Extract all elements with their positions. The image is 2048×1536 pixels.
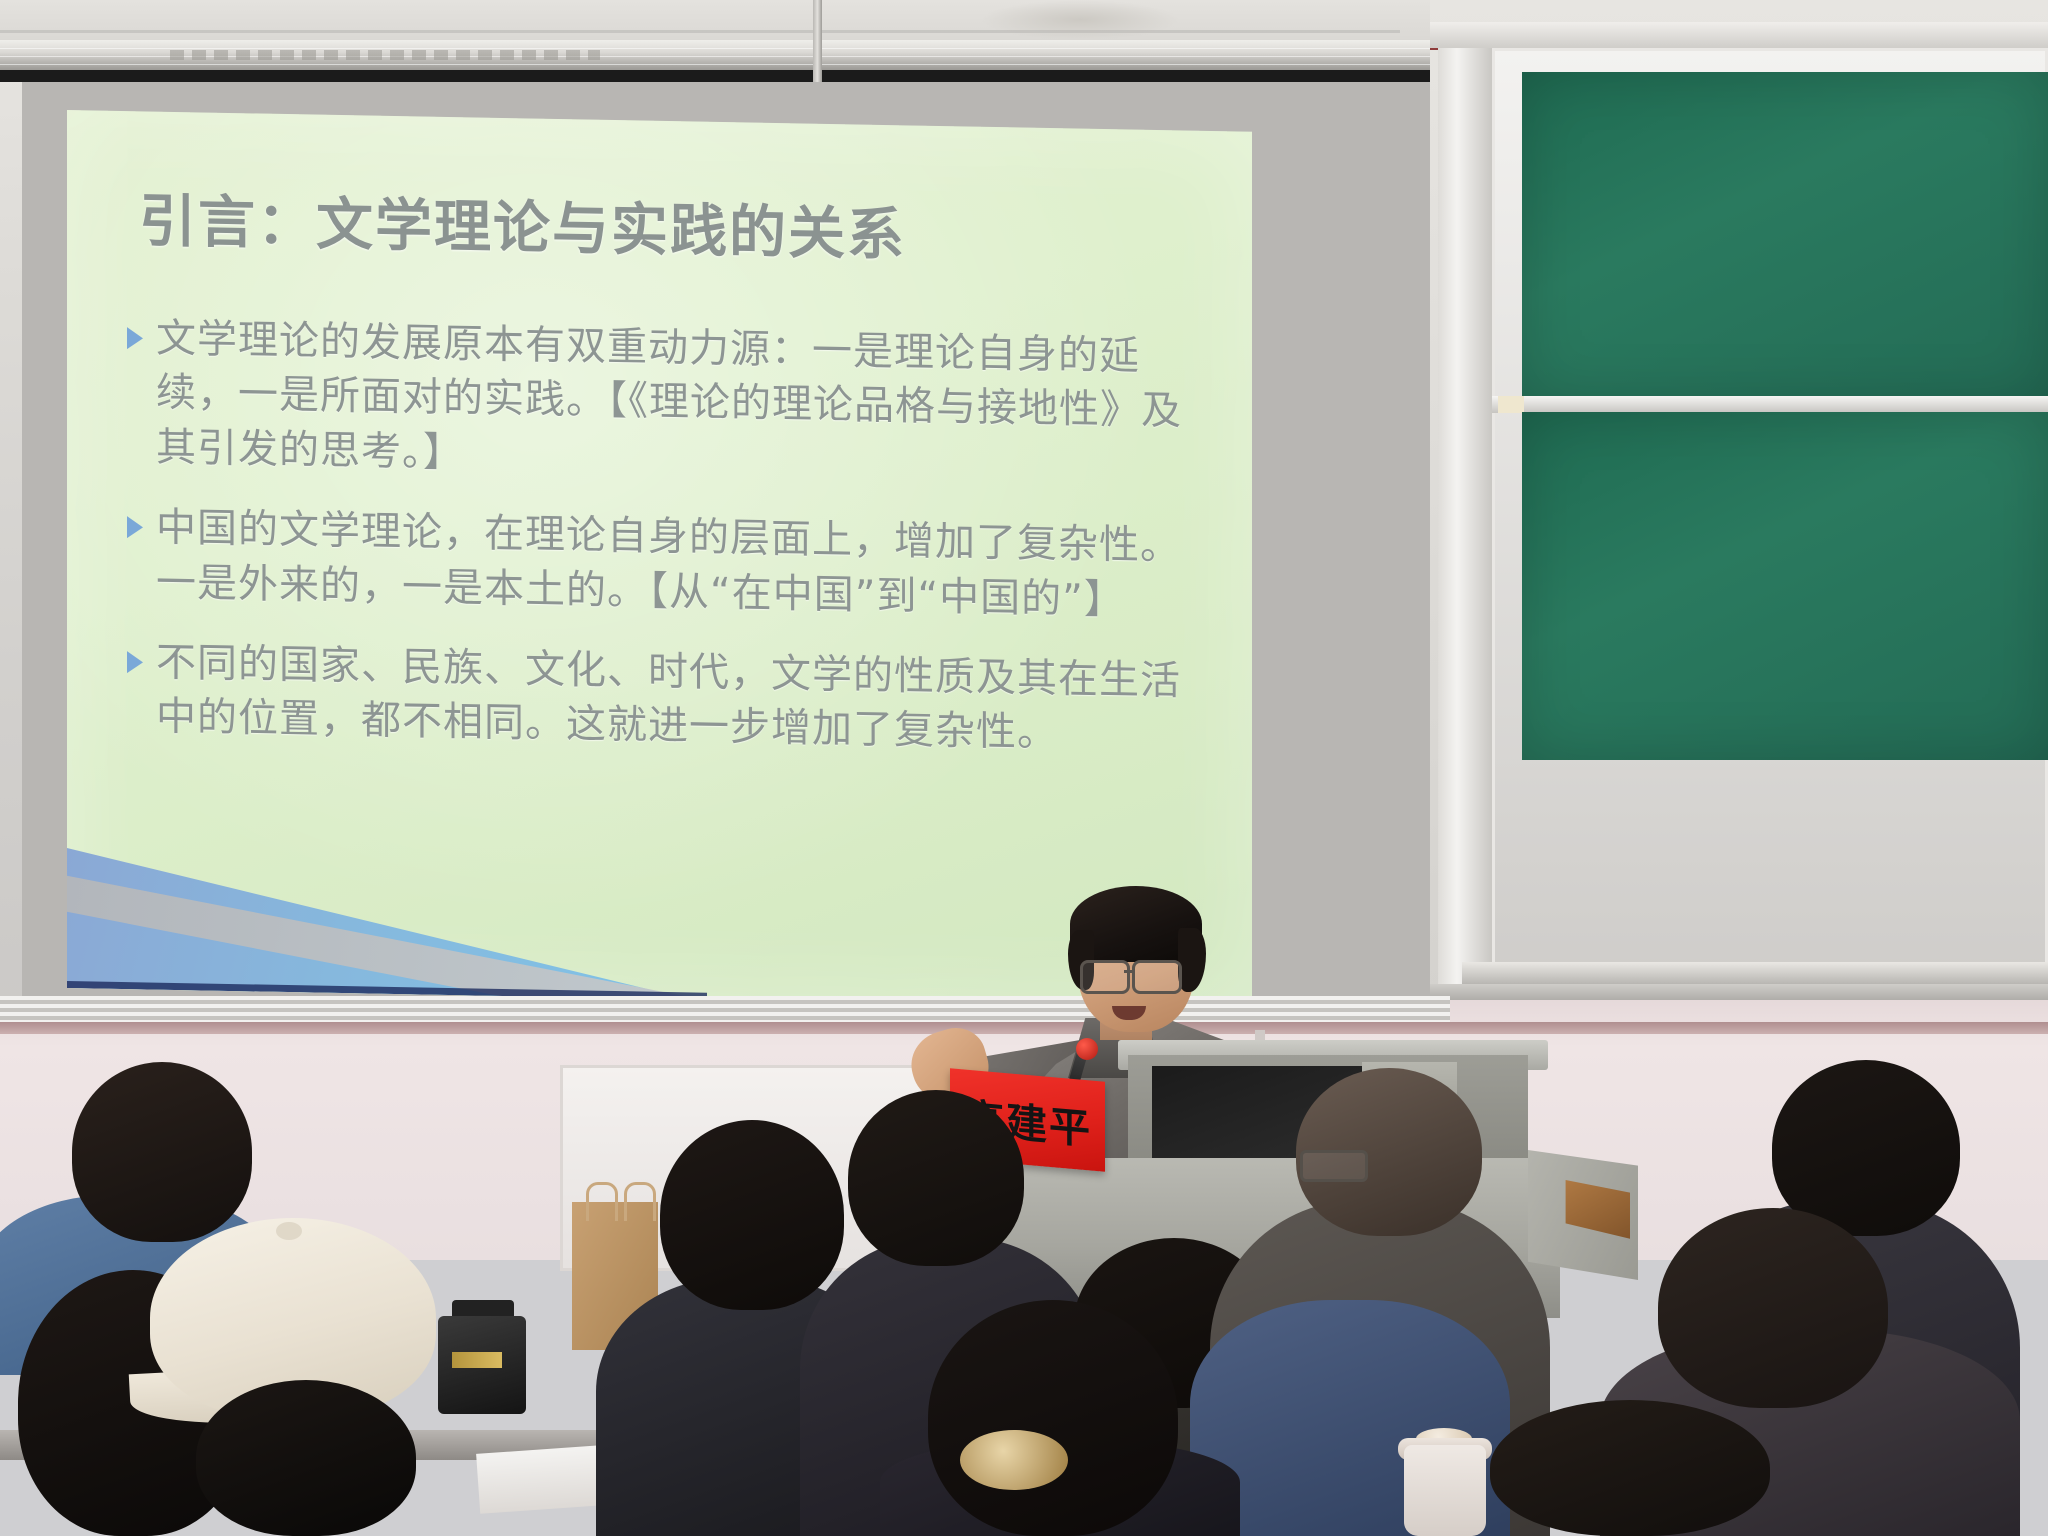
audience-glasses-icon — [1300, 1150, 1368, 1182]
audience-head — [1490, 1400, 1770, 1536]
audience-hair-under-cap — [196, 1380, 416, 1536]
slide-bullet-text: 中国的文学理论，在理论自身的层面上，增加了复杂性。一是外来的，一是本土的。【从“… — [156, 501, 1187, 629]
audience-head — [72, 1062, 252, 1242]
triangle-right-icon — [127, 516, 143, 538]
blackboard-left-post — [1438, 48, 1492, 998]
slide-bullet-list: 文学理论的发展原本有双重动力源：一是理论自身的延续，一是所面对的实践。【《理论的… — [127, 311, 1187, 789]
paper-bag-handle — [586, 1182, 618, 1221]
slide-bullet-item: 不同的国家、民族、文化、时代，文学的性质及其在生活中的位置，都不相同。这就进一步… — [127, 635, 1187, 763]
audience-head — [928, 1300, 1178, 1536]
slide-bullet-text: 文学理论的发展原本有双重动力源：一是理论自身的延续，一是所面对的实践。【《理论的… — [156, 312, 1187, 494]
camera-brand-badge — [452, 1352, 502, 1368]
audience-head — [848, 1090, 1024, 1266]
chalk-icon — [1498, 396, 1524, 413]
blackboard-bottom-ledge — [1462, 962, 2048, 984]
audience-head — [1772, 1060, 1960, 1236]
glasses-bridge — [1124, 970, 1134, 973]
lecture-hall-photo: 引言：文学理论与实践的关系 文学理论的发展原本有双重动力源：一是理论自身的延续，… — [0, 0, 2048, 1536]
hair-scrunchie — [960, 1430, 1068, 1490]
stage-rail-upper — [0, 996, 1450, 1022]
rail-printed-text — [170, 50, 600, 60]
slide-bullet-item: 文学理论的发展原本有双重动力源：一是理论自身的延续，一是所面对的实践。【《理论的… — [127, 311, 1187, 494]
rail-shadow-strip — [0, 70, 1480, 82]
projected-slide: 引言：文学理论与实践的关系 文学理论的发展原本有双重动力源：一是理论自身的延续，… — [67, 110, 1252, 1010]
projection-screen-frame: 引言：文学理论与实践的关系 文学理论的发展原本有双重动力源：一是理论自身的延续，… — [22, 82, 1442, 1002]
triangle-right-icon — [127, 651, 143, 673]
blackboard-panel-lower — [1522, 412, 2048, 760]
cap-button — [276, 1222, 302, 1240]
wall-stain — [980, 0, 1180, 40]
coffee-cup-icon — [1404, 1445, 1486, 1536]
paper-bag-handle — [624, 1182, 656, 1221]
blackboard-top-strip — [1430, 22, 2048, 50]
blackboard-panel-upper — [1522, 72, 2048, 402]
glasses-icon — [1080, 960, 1130, 994]
slide-bullet-item: 中国的文学理论，在理论自身的层面上，增加了复杂性。一是外来的，一是本土的。【从“… — [127, 500, 1187, 628]
ceiling-seam — [0, 30, 1400, 33]
triangle-right-icon — [127, 327, 143, 349]
slide-corner-decoration — [67, 798, 707, 1000]
microphone-head-icon — [1076, 1038, 1098, 1060]
audience-head — [1658, 1208, 1888, 1408]
audience-head — [660, 1120, 844, 1310]
blackboard-divider-ledge — [1492, 396, 2048, 413]
glasses-icon — [1132, 960, 1182, 994]
slide-bullet-text: 不同的国家、民族、文化、时代，文学的性质及其在生活中的位置，都不相同。这就进一步… — [156, 636, 1187, 764]
stage-rail-lower — [0, 1022, 2048, 1034]
